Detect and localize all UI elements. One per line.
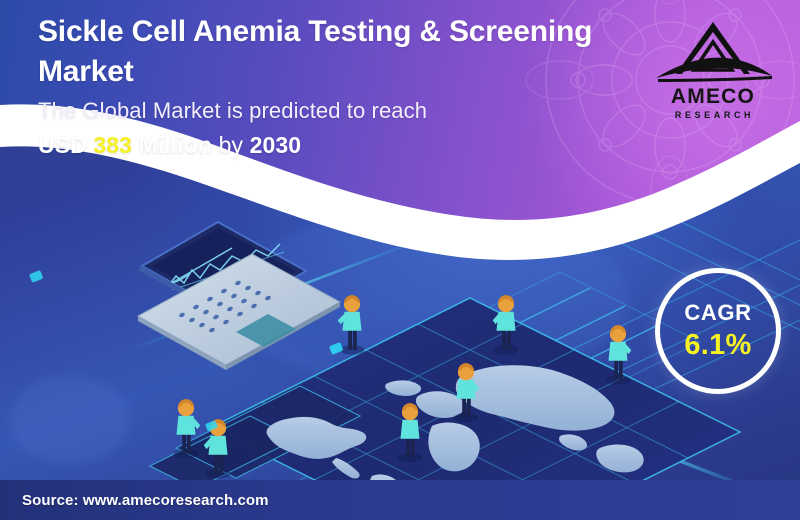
page-title: Sickle Cell Anemia Testing & Screening M… <box>38 12 658 91</box>
value-year: 2030 <box>250 132 302 158</box>
ambient-glow-left <box>10 376 130 464</box>
value-number: 383 <box>93 132 132 158</box>
brand-logo[interactable]: AMECO RESEARCH <box>648 18 778 122</box>
logo-tagline-text: RESEARCH <box>648 110 778 120</box>
cagr-label: CAGR <box>684 300 751 326</box>
infographic-canvas: Sickle Cell Anemia Testing & Screening M… <box>0 0 800 520</box>
cagr-value: 6.1% <box>684 329 751 362</box>
wave-shape <box>0 104 800 260</box>
footer-bar: Source: www.amecoresearch.com <box>0 480 800 520</box>
value-unit: Million <box>139 132 213 158</box>
subtitle-line: The Global Market is predicted to reach <box>38 98 678 124</box>
source-text: Source: www.amecoresearch.com <box>0 492 269 509</box>
market-value-line: USD 383 Million by 2030 <box>38 132 678 159</box>
logo-name-text: AMECO <box>648 86 778 107</box>
value-prefix: USD <box>38 132 87 158</box>
value-connector: by <box>219 132 244 158</box>
triangle-peak-swoosh-icon <box>648 18 778 88</box>
cagr-badge: CAGR 6.1% <box>655 268 781 394</box>
